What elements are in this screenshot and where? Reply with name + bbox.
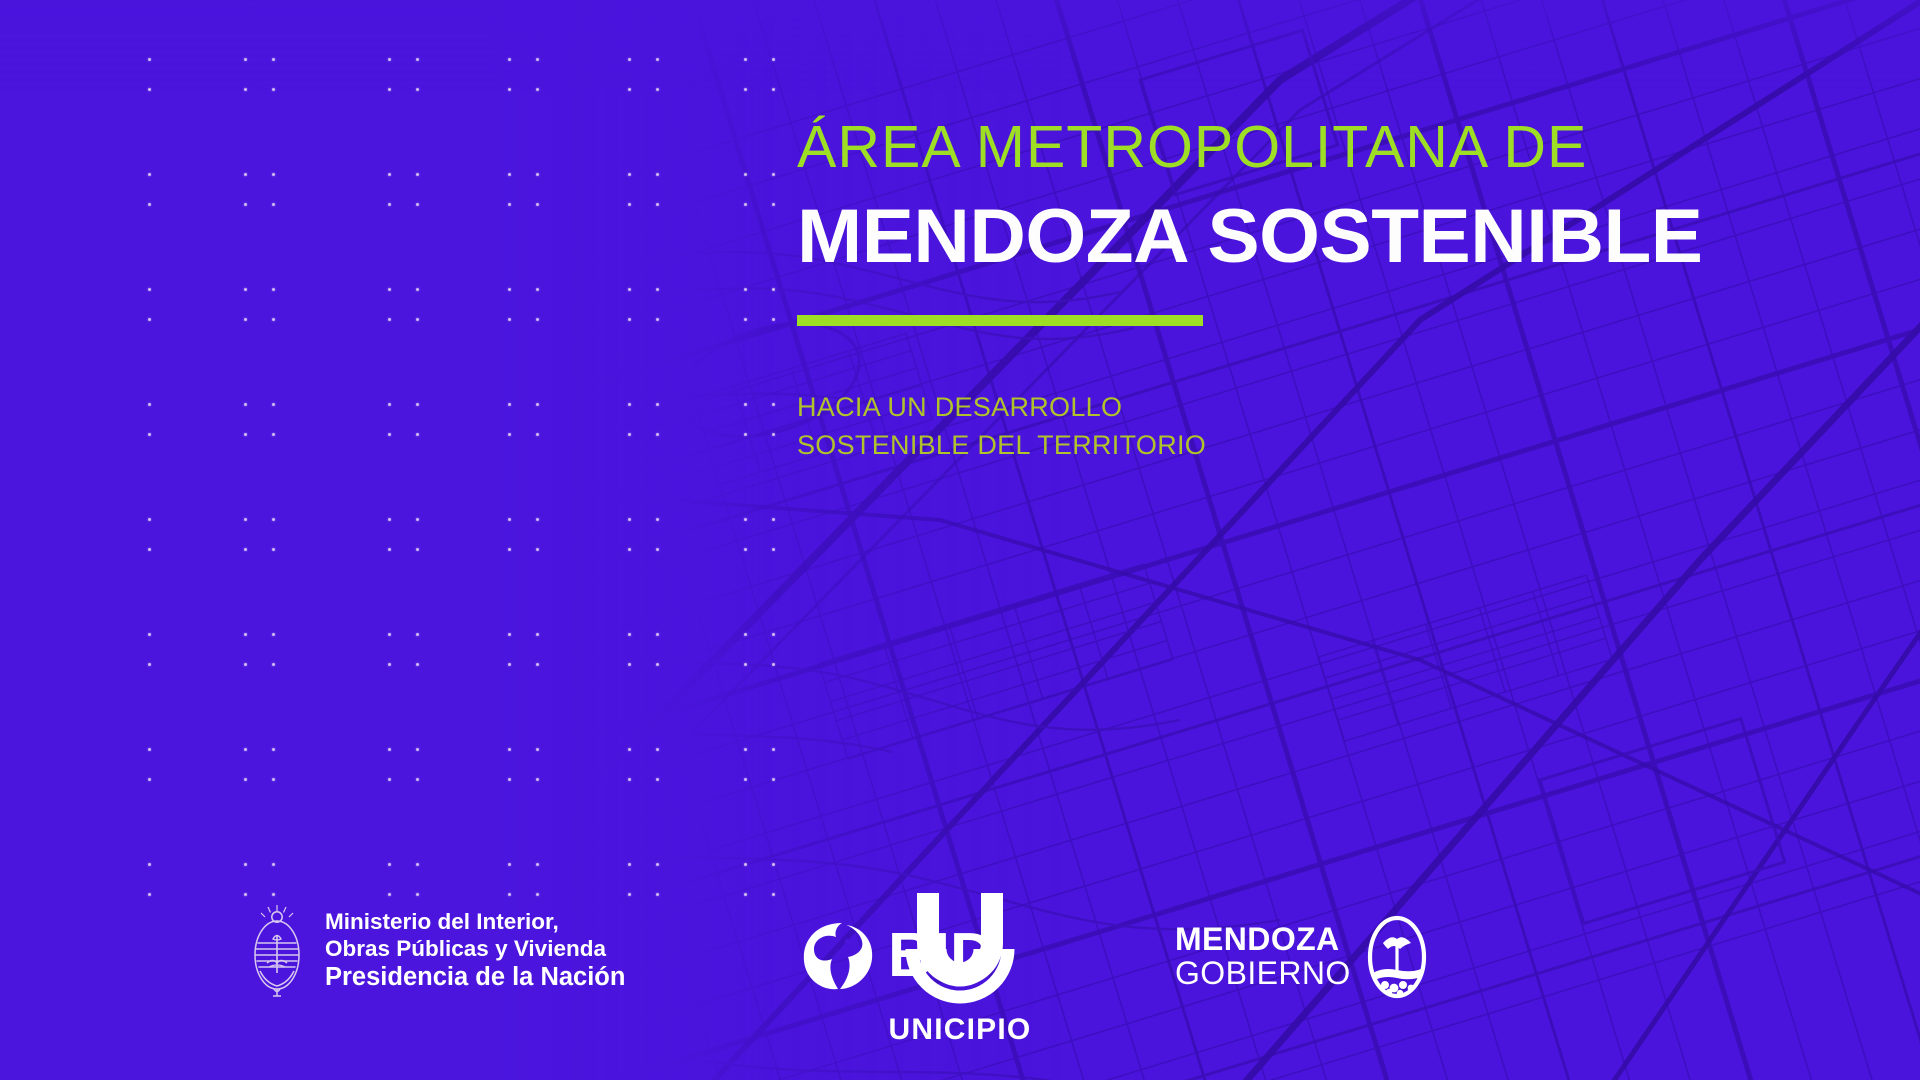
grid-dot	[388, 58, 391, 61]
grid-dot	[772, 88, 775, 91]
grid-dot	[388, 778, 391, 781]
grid-dot	[628, 203, 631, 206]
grid-dot	[272, 403, 275, 406]
grid-dot	[272, 288, 275, 291]
grid-dot	[772, 318, 775, 321]
grid-dot	[772, 518, 775, 521]
grid-dot	[388, 548, 391, 551]
grid-dot	[536, 663, 539, 666]
grid-dot	[628, 518, 631, 521]
grid-dot	[536, 633, 539, 636]
grid-dot	[744, 58, 747, 61]
grid-dot	[772, 778, 775, 781]
grid-dot	[508, 58, 511, 61]
grid-dot	[244, 548, 247, 551]
grid-dot	[508, 863, 511, 866]
page-subtitle: HACIA UN DESARROLLO SOSTENIBLE DEL TERRI…	[797, 388, 1797, 465]
grid-dot	[508, 88, 511, 91]
dot-grid-pattern	[148, 58, 768, 868]
grid-dot	[508, 663, 511, 666]
ministry-line-3: Presidencia de la Nación	[325, 963, 625, 993]
grid-dot	[656, 548, 659, 551]
grid-dot	[508, 433, 511, 436]
grid-dot	[272, 433, 275, 436]
grid-dot	[508, 318, 511, 321]
grid-dot	[416, 433, 419, 436]
grid-dot	[656, 288, 659, 291]
grid-dot	[744, 403, 747, 406]
mendoza-wordmark: MENDOZA GOBIERNO	[1175, 923, 1351, 991]
grid-dot	[388, 173, 391, 176]
page-eyebrow: ÁREA METROPOLITANA DE	[797, 118, 1797, 177]
grid-dot	[416, 318, 419, 321]
grid-dot	[772, 748, 775, 751]
grid-dot	[536, 173, 539, 176]
grid-dot	[744, 518, 747, 521]
grid-dot	[628, 778, 631, 781]
top-gradient-mask	[0, 0, 1920, 90]
grid-dot	[244, 778, 247, 781]
grid-dot	[536, 288, 539, 291]
grid-dot	[656, 433, 659, 436]
bid-leaf-mark-icon	[802, 921, 876, 991]
grid-dot	[272, 633, 275, 636]
grid-dot	[744, 548, 747, 551]
grid-dot	[416, 748, 419, 751]
mendoza-line-1: MENDOZA	[1175, 923, 1351, 957]
grid-dot	[244, 173, 247, 176]
grid-dot	[536, 58, 539, 61]
grid-dot	[744, 318, 747, 321]
hero-text-block: ÁREA METROPOLITANA DE MENDOZA SOSTENIBLE…	[797, 118, 1797, 465]
grid-dot	[148, 433, 151, 436]
grid-dot	[772, 633, 775, 636]
grid-dot	[416, 58, 419, 61]
grid-dot	[272, 778, 275, 781]
grid-dot	[744, 663, 747, 666]
grid-dot	[244, 403, 247, 406]
grid-dot	[508, 548, 511, 551]
grid-dot	[536, 518, 539, 521]
grid-dot	[772, 863, 775, 866]
grid-dot	[628, 863, 631, 866]
grid-dot	[244, 88, 247, 91]
grid-dot	[508, 633, 511, 636]
grid-dot	[388, 403, 391, 406]
grid-dot	[772, 663, 775, 666]
grid-dot	[772, 203, 775, 206]
grid-dot	[628, 663, 631, 666]
mendoza-cerro-de-la-gloria-crest-icon	[1367, 915, 1427, 999]
grid-dot	[656, 518, 659, 521]
grid-dot	[388, 518, 391, 521]
grid-dot	[148, 288, 151, 291]
grid-dot	[388, 863, 391, 866]
grid-dot	[508, 748, 511, 751]
grid-dot	[744, 778, 747, 781]
grid-dot	[744, 748, 747, 751]
grid-dot	[244, 863, 247, 866]
grid-dot	[772, 173, 775, 176]
grid-dot	[148, 58, 151, 61]
grid-dot	[536, 318, 539, 321]
grid-dot	[388, 88, 391, 91]
grid-dot	[416, 88, 419, 91]
grid-dot	[656, 318, 659, 321]
grid-dot	[244, 58, 247, 61]
bid-wordmark: BID	[888, 927, 995, 986]
grid-dot	[272, 173, 275, 176]
grid-dot	[772, 548, 775, 551]
grid-dot	[244, 663, 247, 666]
page-subtitle-line2: SOSTENIBLE DEL TERRITORIO	[797, 426, 1797, 464]
grid-dot	[656, 88, 659, 91]
grid-dot	[536, 778, 539, 781]
grid-dot	[416, 663, 419, 666]
grid-dot	[656, 778, 659, 781]
grid-dot	[628, 548, 631, 551]
grid-dot	[416, 203, 419, 206]
grid-dot	[744, 863, 747, 866]
grid-dot	[508, 288, 511, 291]
grid-dot	[628, 288, 631, 291]
ministry-line-1: Ministerio del Interior,	[325, 909, 625, 935]
partner-logo-bar: Ministerio del Interior, Obras Públicas …	[0, 885, 1920, 1035]
grid-dot	[244, 433, 247, 436]
grid-dot	[244, 518, 247, 521]
grid-dot	[148, 748, 151, 751]
grid-dot	[744, 288, 747, 291]
grid-dot	[148, 548, 151, 551]
grid-dot	[416, 633, 419, 636]
grid-dot	[656, 863, 659, 866]
grid-dot	[148, 778, 151, 781]
argentina-ministry-text: Ministerio del Interior, Obras Públicas …	[325, 909, 625, 992]
grid-dot	[656, 173, 659, 176]
grid-dot	[272, 548, 275, 551]
grid-dot	[244, 748, 247, 751]
grid-dot	[388, 433, 391, 436]
grid-dot	[148, 633, 151, 636]
argentina-ministry-logo: Ministerio del Interior, Obras Públicas …	[246, 899, 625, 1003]
grid-dot	[772, 58, 775, 61]
grid-dot	[148, 318, 151, 321]
grid-dot	[416, 173, 419, 176]
grid-dot	[744, 88, 747, 91]
grid-dot	[656, 663, 659, 666]
argentina-coat-of-arms-icon	[246, 899, 308, 1003]
grid-dot	[148, 88, 151, 91]
grid-dot	[388, 318, 391, 321]
grid-dot	[628, 173, 631, 176]
grid-dot	[244, 318, 247, 321]
mendoza-gobierno-logo: MENDOZA GOBIERNO	[1175, 915, 1427, 999]
grid-dot	[244, 288, 247, 291]
grid-dot	[148, 518, 151, 521]
grid-dot	[628, 633, 631, 636]
grid-dot	[148, 863, 151, 866]
grid-dot	[508, 173, 511, 176]
grid-dot	[628, 403, 631, 406]
grid-dot	[628, 318, 631, 321]
grid-dot	[628, 88, 631, 91]
grid-dot	[388, 203, 391, 206]
grid-dot	[536, 433, 539, 436]
grid-dot	[656, 748, 659, 751]
grid-dot	[272, 518, 275, 521]
grid-dot	[536, 548, 539, 551]
grid-dot	[416, 403, 419, 406]
grid-dot	[656, 633, 659, 636]
grid-dot	[772, 433, 775, 436]
grid-dot	[388, 663, 391, 666]
grid-dot	[272, 748, 275, 751]
grid-dot	[388, 633, 391, 636]
grid-dot	[388, 748, 391, 751]
mendoza-line-2: GOBIERNO	[1175, 957, 1351, 991]
grid-dot	[536, 748, 539, 751]
grid-dot	[148, 663, 151, 666]
grid-dot	[272, 58, 275, 61]
grid-dot	[388, 288, 391, 291]
grid-dot	[416, 778, 419, 781]
grid-dot	[272, 863, 275, 866]
grid-dot	[244, 203, 247, 206]
grid-dot	[656, 203, 659, 206]
grid-dot	[416, 548, 419, 551]
grid-dot	[508, 403, 511, 406]
grid-dot	[416, 863, 419, 866]
grid-dot	[272, 663, 275, 666]
grid-dot	[508, 203, 511, 206]
page-title: MENDOZA SOSTENIBLE	[797, 199, 1827, 275]
grid-dot	[508, 778, 511, 781]
presentation-cover-slide: ÁREA METROPOLITANA DE MENDOZA SOSTENIBLE…	[0, 0, 1920, 1080]
grid-dot	[416, 288, 419, 291]
bid-logo: BID	[802, 921, 995, 991]
grid-dot	[744, 203, 747, 206]
grid-dot	[508, 518, 511, 521]
grid-dot	[744, 173, 747, 176]
grid-dot	[244, 633, 247, 636]
grid-dot	[272, 318, 275, 321]
grid-dot	[536, 863, 539, 866]
grid-dot	[148, 203, 151, 206]
grid-dot	[148, 403, 151, 406]
grid-dot	[772, 403, 775, 406]
grid-dot	[744, 433, 747, 436]
grid-dot	[628, 433, 631, 436]
ministry-line-2: Obras Públicas y Vivienda	[325, 936, 625, 962]
grid-dot	[628, 748, 631, 751]
page-subtitle-line1: HACIA UN DESARROLLO	[797, 388, 1797, 426]
grid-dot	[416, 518, 419, 521]
grid-dot	[272, 203, 275, 206]
grid-dot	[656, 58, 659, 61]
grid-dot	[536, 403, 539, 406]
grid-dot	[272, 88, 275, 91]
grid-dot	[656, 403, 659, 406]
grid-dot	[628, 58, 631, 61]
grid-dot	[744, 633, 747, 636]
grid-dot	[536, 203, 539, 206]
grid-dot	[148, 173, 151, 176]
grid-dot	[536, 88, 539, 91]
grid-dot	[772, 288, 775, 291]
accent-rule	[797, 315, 1203, 326]
unicipio-wordmark: UNICIPIO	[0, 1013, 1920, 1047]
